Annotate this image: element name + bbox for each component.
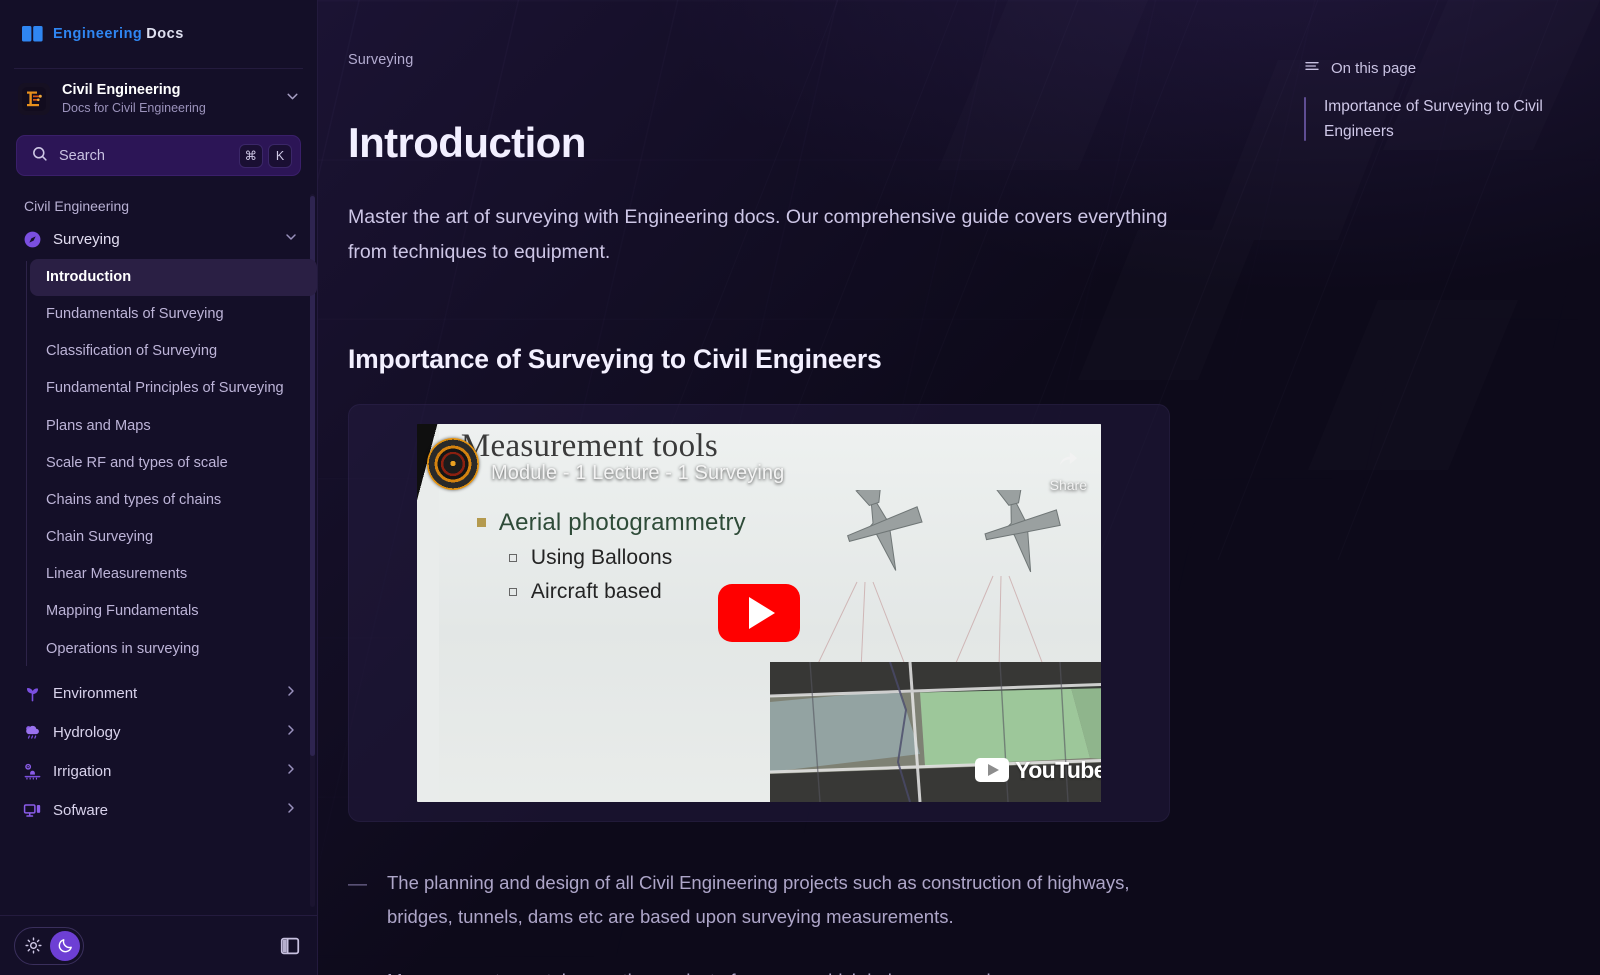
slide-subbullet-marker: [509, 554, 517, 562]
sun-icon[interactable]: [18, 931, 48, 961]
nav-section-label: Civil Engineering: [0, 192, 317, 222]
toc-heading: On this page: [1331, 60, 1416, 77]
sidebar-item-irrigation[interactable]: Irrigation: [0, 752, 317, 791]
bullet-text: The planning and design of all Civil Eng…: [387, 866, 1168, 934]
youtube-watermark: YouTube: [975, 757, 1101, 784]
irrigation-icon: [22, 761, 42, 781]
search-icon: [31, 145, 48, 167]
sidebar-group-surveying[interactable]: Surveying: [0, 222, 317, 257]
main-content: Surveying Introduction Master the art of…: [318, 0, 1600, 975]
bullet-marker: —: [348, 866, 367, 934]
workspace-texts: Civil Engineering Docs for Civil Enginee…: [62, 81, 272, 117]
section-heading-importance: Importance of Surveying to Civil Enginee…: [348, 344, 1218, 375]
app-root: EngineeringDocs Civil Engineerin: [0, 0, 1600, 975]
kbd-meta: ⌘: [239, 144, 264, 168]
page-title: Introduction: [348, 120, 1218, 166]
theme-toggle[interactable]: [14, 927, 84, 965]
breadcrumb[interactable]: Surveying: [348, 52, 1218, 68]
sidebar-footer: [0, 915, 317, 975]
slide-subbullet-marker: [509, 588, 517, 596]
youtube-player[interactable]: Measurement tools Aerial photogrammetry …: [417, 424, 1101, 802]
civil-structure-icon: [18, 83, 50, 115]
slide-bullet-main: Aerial photogrammetry: [499, 509, 746, 537]
bullet-marker: —: [348, 964, 367, 975]
content-column: Surveying Introduction Master the art of…: [318, 0, 1218, 975]
aircraft-illustration: [795, 490, 1095, 670]
video-title[interactable]: Module - 1 Lecture - 1 Surveying: [491, 462, 784, 485]
sidebar-item-mapping-fundamentals[interactable]: Mapping Fundamentals: [30, 593, 317, 630]
sidebar-item-operations-in-surveying[interactable]: Operations in surveying: [30, 631, 317, 668]
workspace-switcher[interactable]: Civil Engineering Docs for Civil Enginee…: [0, 69, 317, 129]
slide-subbullet-1: Using Balloons: [531, 546, 672, 570]
sidebar-item-plans-and-maps[interactable]: Plans and Maps: [30, 408, 317, 445]
youtube-wordmark: YouTube: [1015, 757, 1101, 784]
share-arrow-icon: [1055, 448, 1081, 475]
sidebar-item-label: Environment: [53, 685, 272, 702]
search-shortcut: ⌘ K: [239, 144, 293, 168]
search-input[interactable]: Search ⌘ K: [16, 135, 301, 176]
page-lede: Master the art of surveying with Enginee…: [348, 200, 1168, 269]
kbd-key: K: [268, 144, 292, 168]
sprout-icon: [22, 683, 42, 703]
cloud-rain-icon: [22, 722, 42, 742]
slide-bullet-marker: [477, 518, 486, 527]
toc-item-importance-of-surveying[interactable]: Importance of Surveying to Civil Enginee…: [1324, 98, 1543, 140]
sidebar-item-fundamentals-of-surveying[interactable]: Fundamentals of Surveying: [30, 296, 317, 333]
video-embed-card: Measurement tools Aerial photogrammetry …: [348, 404, 1170, 822]
brand-name-primary: Engineering: [53, 26, 142, 42]
aerial-map-thumbnail: YouTube: [770, 662, 1101, 802]
chevron-down-icon: [284, 88, 301, 110]
workspace-subtitle: Docs for Civil Engineering: [62, 100, 272, 117]
moon-icon[interactable]: [50, 931, 80, 961]
sidebar-panel-icon[interactable]: [279, 935, 301, 957]
list-item: — The planning and design of all Civil E…: [348, 866, 1168, 934]
sidebar-item-chain-surveying[interactable]: Chain Surveying: [30, 519, 317, 556]
workspace-title: Civil Engineering: [62, 81, 272, 99]
sidebar-item-chains-and-types-of-chains[interactable]: Chains and types of chains: [30, 482, 317, 519]
compass-icon: [22, 230, 42, 250]
on-this-page-panel: On this page Importance of Surveying to …: [1280, 0, 1600, 975]
chevron-down-icon: [283, 229, 299, 250]
sidebar: EngineeringDocs Civil Engineerin: [0, 0, 318, 975]
share-label: Share: [1050, 477, 1087, 493]
sidebar-item-label: Hydrology: [53, 724, 272, 741]
monitor-icon: [22, 800, 42, 820]
slide-title: Measurement tools: [461, 428, 718, 465]
chevron-right-icon: [283, 722, 299, 743]
youtube-play-icon: [975, 758, 1009, 782]
brand-logo[interactable]: EngineeringDocs: [22, 26, 184, 43]
list-item: — Measurements are taken on the product …: [348, 964, 1168, 975]
brand-text: EngineeringDocs: [53, 26, 184, 42]
sidebar-item-scale-rf-and-types-of-scale[interactable]: Scale RF and types of scale: [30, 445, 317, 482]
sidebar-item-environment[interactable]: Environment: [0, 674, 317, 713]
brand-row: EngineeringDocs: [0, 0, 317, 68]
sidebar-item-fundamental-principles-of-surveying[interactable]: Fundamental Principles of Surveying: [30, 370, 317, 407]
toc-list: Importance of Surveying to Civil Enginee…: [1304, 94, 1576, 144]
sidebar-item-introduction[interactable]: Introduction: [30, 259, 317, 296]
sidebar-item-classification-of-surveying[interactable]: Classification of Surveying: [30, 333, 317, 370]
brand-name-secondary: Docs: [146, 26, 183, 42]
sidebar-item-label: Sofware: [53, 802, 272, 819]
sidebar-nav: Civil Engineering Surveying Introduction…: [0, 186, 317, 915]
sidebar-group-label: Surveying: [53, 231, 272, 248]
bullet-list: — The planning and design of all Civil E…: [348, 866, 1168, 975]
chevron-right-icon: [283, 683, 299, 704]
slide-subbullet-2: Aircraft based: [531, 580, 662, 604]
toc-header: On this page: [1304, 58, 1576, 78]
chevron-right-icon: [283, 761, 299, 782]
sidebar-item-hydrology[interactable]: Hydrology: [0, 713, 317, 752]
chevron-right-icon: [283, 800, 299, 821]
youtube-play-button[interactable]: [718, 584, 800, 642]
bullet-text: Measurements are taken on the product of…: [387, 964, 1092, 975]
sidebar-item-label: Irrigation: [53, 763, 272, 780]
sidebar-item-linear-measurements[interactable]: Linear Measurements: [30, 556, 317, 593]
channel-avatar-icon[interactable]: [427, 438, 479, 490]
open-book-icon: [22, 26, 44, 43]
list-lines-icon: [1304, 58, 1320, 78]
share-button[interactable]: Share: [1050, 448, 1087, 493]
sidebar-item-sofware[interactable]: Sofware: [0, 791, 317, 830]
search-placeholder: Search: [59, 148, 228, 164]
sidebar-subnav: Introduction Fundamentals of Surveying C…: [0, 259, 317, 668]
